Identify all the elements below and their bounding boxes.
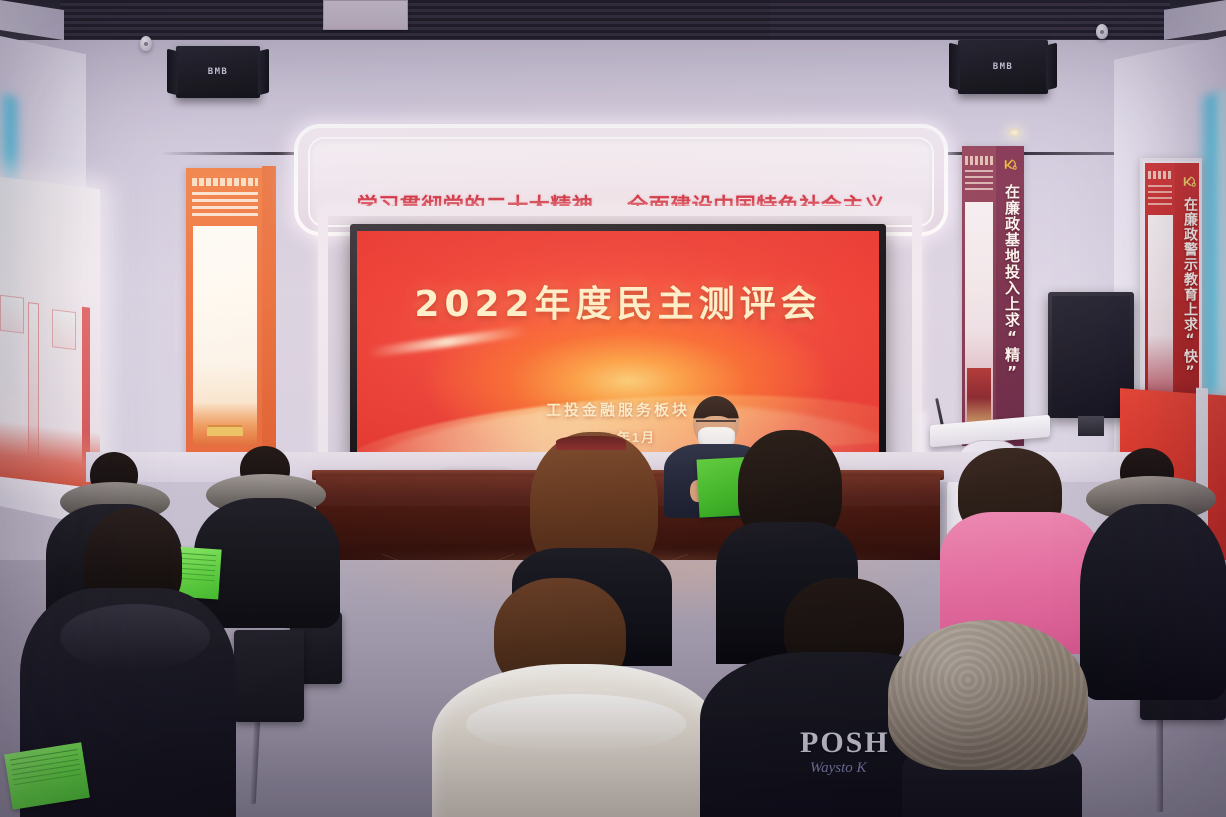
- banner-slogan-left: 学习贯彻党的二十大精神: [357, 194, 594, 218]
- ceiling-speaker-left: BMB: [176, 46, 260, 98]
- ceiling-speaker-right: BMB: [958, 40, 1048, 94]
- poster-body-text: [192, 192, 258, 218]
- ceiling-edge-left: [0, 0, 64, 40]
- jacket-script-text: Waysto K: [810, 760, 867, 777]
- audience-body: [1080, 504, 1226, 700]
- led-header-banner-inner: 学习贯彻党的二十大精神全面建设中国特色社会主义: [308, 137, 934, 227]
- screen-light-ray: [368, 326, 528, 358]
- ceiling-edge-right: [1164, 0, 1226, 40]
- banner-slogan-text: 学习贯彻党的二十大精神全面建设中国特色社会主义: [357, 190, 886, 220]
- screen-subtitle-text: 工投金融服务板块: [357, 399, 879, 420]
- poster-maroon-vertical-text: 在廉政基地投入上求“精”: [1002, 184, 1023, 382]
- wall-lightbox-display-left: [0, 176, 100, 489]
- poster-white-panel: [193, 226, 257, 446]
- wall-poster-orange: [186, 168, 268, 456]
- meeting-room-photo: BMB BMB 学习贯彻党的二十大精神全面建设中国特色社会主义: [0, 0, 1226, 817]
- knit-texture: [888, 620, 1088, 770]
- party-emblem-icon: [1002, 156, 1019, 173]
- hairband: [556, 436, 626, 450]
- led-header-banner-box: 学习贯彻党的二十大精神全面建设中国特色社会主义: [294, 124, 948, 236]
- speaker-brand-label: BMB: [993, 62, 1013, 72]
- poster-body-text: [1148, 185, 1172, 205]
- jacket-puff-highlight: [466, 694, 686, 754]
- ceiling: [0, 0, 1226, 42]
- smoke-detector-icon-right: [1096, 24, 1108, 39]
- wall-poster-maroon: 在廉政基地投入上求“精”: [962, 146, 1024, 446]
- wall-monitor-stand: [1078, 416, 1104, 436]
- poster-heading-text: [965, 156, 993, 165]
- wall-poster-orange-strip: [262, 166, 276, 458]
- audience-chair: [234, 630, 304, 722]
- poster-footer-graphic: [193, 402, 257, 446]
- poster-photo-card: [1148, 215, 1173, 415]
- audience-member-white-coat: [432, 578, 722, 817]
- chair-leg: [1156, 716, 1163, 812]
- audience-member: [1080, 448, 1226, 698]
- lightbox-card: [52, 309, 76, 350]
- smoke-detector-icon-left: [140, 36, 152, 51]
- audience-member-beanie: [888, 620, 1088, 817]
- led-cove-light-right-outer: [1216, 89, 1226, 421]
- screen-title-text: 2022年度民主测评会: [357, 275, 879, 327]
- poster-body-text: [965, 170, 993, 192]
- speaker-brand-label: BMB: [208, 67, 228, 77]
- poster-red-vertical-text: 在廉政警示教育上求“快”: [1180, 197, 1200, 381]
- poster-maroon-text-column: [962, 146, 996, 446]
- banner-slogan-right: 全面建设中国特色社会主义: [627, 194, 885, 218]
- poster-photo-card: [965, 202, 993, 438]
- poster-maroon-title-column: 在廉政基地投入上求“精”: [996, 146, 1024, 446]
- poster-heading-text: [1148, 171, 1172, 179]
- ceiling-device-panel: [323, 0, 408, 30]
- ceiling-slats-right: [770, 0, 1170, 40]
- poster-title-text: [192, 178, 258, 186]
- jacket-logo-text: POSH: [800, 726, 890, 760]
- wall-monitor-screen: [1052, 296, 1130, 414]
- ceiling-downlight: [1008, 128, 1021, 137]
- hood-fold: [60, 604, 210, 670]
- lightbox-card: [0, 295, 24, 334]
- party-emblem-icon: [1181, 173, 1198, 190]
